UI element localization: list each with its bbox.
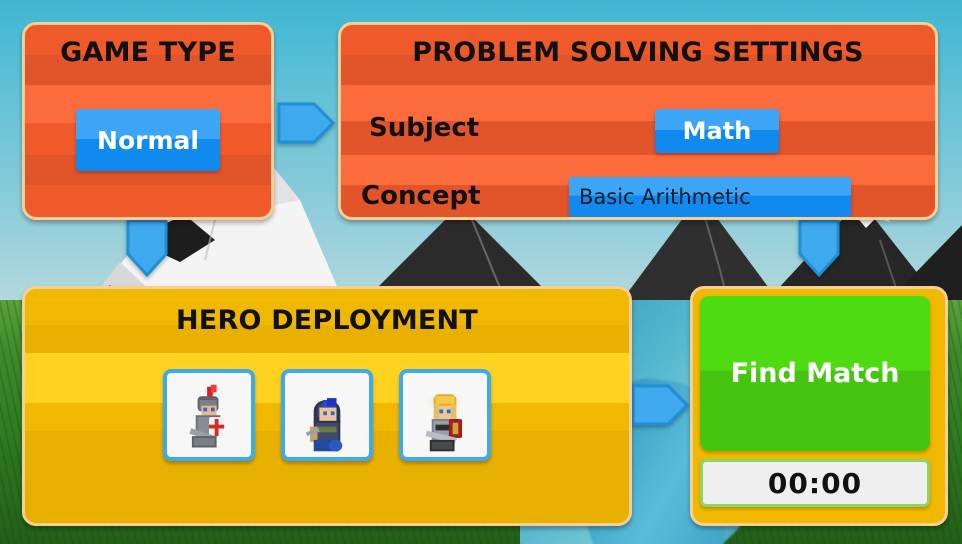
hero-slot-valkyrie[interactable] <box>399 369 491 461</box>
knight-hero-icon <box>171 381 247 457</box>
match-timer: 00:00 <box>700 459 930 507</box>
valkyrie-hero-icon <box>407 381 483 457</box>
hero-deployment-panel: HERO DEPLOYMENT <box>22 286 632 526</box>
concept-value-dropdown[interactable]: Basic Arithmetic <box>569 177 851 217</box>
arrow-game-type-to-hero-icon <box>118 218 176 280</box>
hero-deployment-title: HERO DEPLOYMENT <box>25 289 629 336</box>
game-mode-button-normal[interactable]: Normal <box>76 109 220 171</box>
concept-label: Concept <box>361 181 481 211</box>
game-lobby-screen: GAME TYPE Normal PROBLEM SOLVING SETTING… <box>0 0 962 544</box>
arrow-hero-to-find-match-icon <box>630 376 692 434</box>
game-type-panel: GAME TYPE Normal <box>22 22 274 220</box>
arrow-settings-to-find-match-icon <box>790 218 848 280</box>
hero-slot-knight[interactable] <box>163 369 255 461</box>
find-match-panel: Find Match 00:00 <box>690 286 948 526</box>
find-match-button[interactable]: Find Match <box>700 296 930 451</box>
hero-slot-list <box>25 369 629 461</box>
problem-solving-settings-title: PROBLEM SOLVING SETTINGS <box>341 25 935 68</box>
game-type-title: GAME TYPE <box>25 25 271 68</box>
rogue-hero-icon <box>289 381 365 457</box>
arrow-game-type-to-settings-icon <box>276 94 338 152</box>
subject-label: Subject <box>369 113 479 143</box>
hero-slot-rogue[interactable] <box>281 369 373 461</box>
problem-solving-settings-panel: PROBLEM SOLVING SETTINGS Subject Math Co… <box>338 22 938 220</box>
subject-value-button[interactable]: Math <box>655 109 779 153</box>
